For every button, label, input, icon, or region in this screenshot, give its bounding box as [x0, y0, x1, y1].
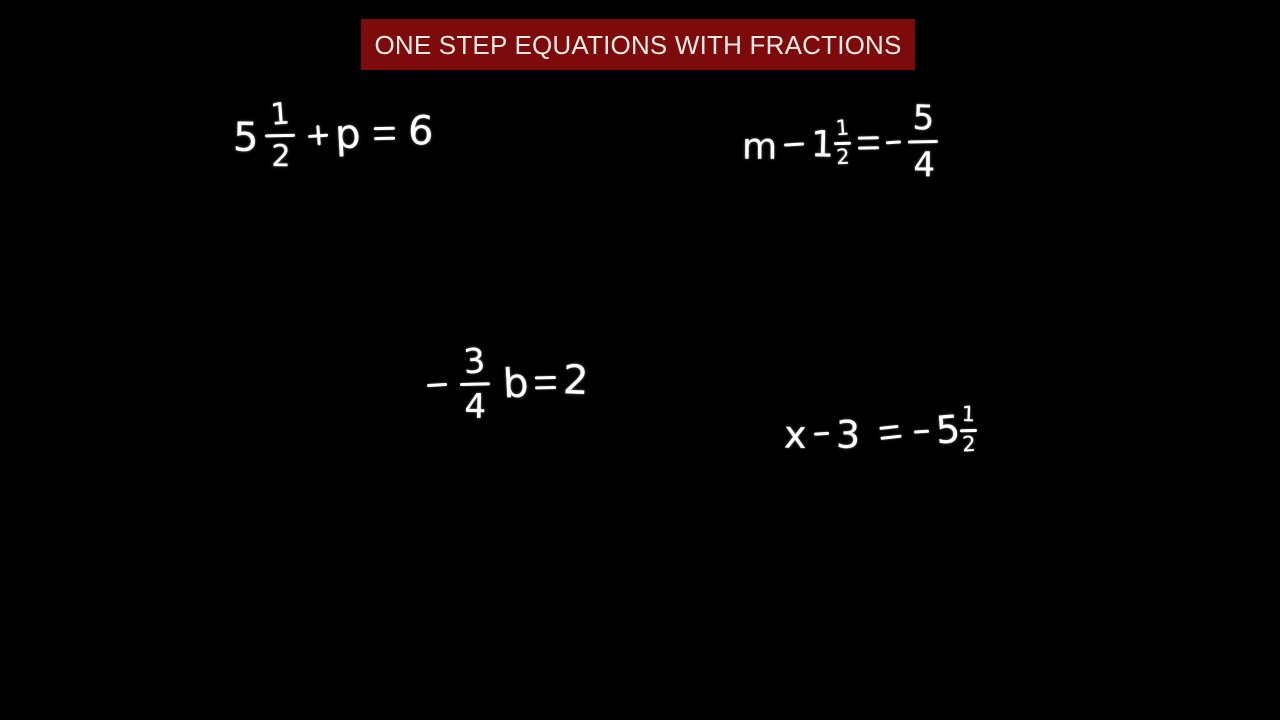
equation-3: 3 4 b 2	[426, 343, 589, 423]
equation-2-fraction: 1 2	[833, 119, 851, 168]
equation-4-result-denominator: 2	[960, 433, 978, 455]
equation-4-variable: x	[784, 416, 807, 455]
title-banner: ONE STEP EQUATIONS WITH FRACTIONS	[361, 19, 915, 70]
equation-1-variable: p	[334, 114, 361, 155]
equation-1-whole: 5	[233, 117, 259, 158]
equation-1: 5 1 2 p 6	[232, 98, 434, 171]
equation-2-result-fraction: 5 4	[908, 103, 940, 181]
equation-4-result-numerator: 1	[959, 404, 977, 426]
equation-1-result: 6	[407, 110, 434, 151]
equation-4-constant: 3	[835, 416, 859, 454]
equation-1-numerator: 1	[267, 99, 292, 131]
equation-2-whole: 1	[811, 127, 835, 164]
equation-2-denominator: 2	[834, 146, 852, 168]
equals-icon	[374, 127, 395, 140]
equation-1-denominator: 2	[269, 142, 292, 172]
equation-3-result: 2	[563, 360, 590, 401]
minus-icon	[813, 432, 828, 436]
whiteboard-canvas: ONE STEP EQUATIONS WITH FRACTIONS 5 1 2 …	[0, 0, 1280, 720]
equation-3-denominator: 4	[462, 389, 488, 424]
equation-2-result-numerator: 5	[910, 101, 937, 136]
fraction-bar	[908, 140, 938, 144]
equals-icon	[858, 136, 879, 149]
equation-2-numerator: 1	[833, 118, 852, 140]
negative-sign-icon	[886, 140, 901, 144]
equation-2-variable: m	[742, 129, 777, 165]
minus-icon	[784, 142, 804, 146]
page-title: ONE STEP EQUATIONS WITH FRACTIONS	[374, 32, 901, 58]
equation-4: x 3 5 1 2	[784, 406, 978, 459]
equation-3-variable: b	[502, 363, 529, 404]
equation-3-fraction: 3 4	[459, 345, 491, 423]
negative-sign-icon	[914, 429, 929, 433]
negative-sign-icon	[427, 383, 447, 387]
equals-icon	[879, 424, 901, 439]
fraction-bar	[265, 134, 295, 138]
equation-4-result-whole: 5	[934, 410, 961, 450]
equation-1-fraction: 1 2	[265, 101, 296, 171]
equation-3-numerator: 3	[460, 344, 488, 380]
equation-2: m 1 1 2 5 4	[741, 103, 939, 184]
equals-icon	[535, 376, 556, 389]
equation-2-result-denominator: 4	[911, 148, 937, 182]
equation-4-result-fraction: 1 2	[959, 406, 977, 455]
plus-icon	[308, 124, 329, 145]
